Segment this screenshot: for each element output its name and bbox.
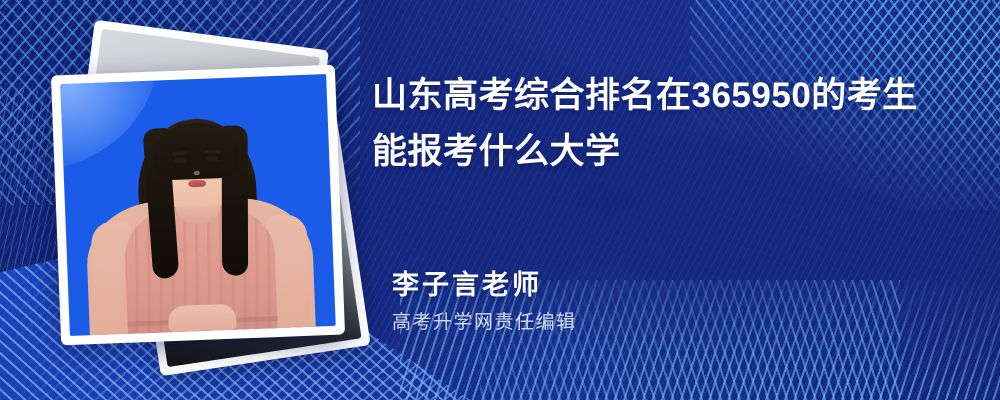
author-photo-card: [51, 65, 345, 346]
author-role: 高考升学网责任编辑: [392, 311, 577, 335]
hands: [168, 304, 237, 333]
nose: [194, 171, 200, 175]
page-title-line-1: 山东高考综合排名在365950的考生: [372, 68, 957, 124]
banner-content: 山东高考综合排名在365950的考生 能报考什么大学 李子言老师 高考升学网责任…: [372, 0, 972, 400]
page-title-line-2: 能报考什么大学: [372, 124, 957, 180]
dress-collar: [176, 205, 221, 225]
eyebrow-right: [205, 150, 220, 153]
portrait-illustration: [60, 74, 335, 336]
author-name: 李子言老师: [392, 268, 577, 302]
eye-left: [174, 158, 186, 163]
photo-card-stack: [48, 38, 348, 338]
author-photo: [60, 74, 335, 336]
eye-right: [206, 156, 218, 161]
article-cover-banner: 山东高考综合排名在365950的考生 能报考什么大学 李子言老师 高考升学网责任…: [0, 0, 1000, 400]
author-block: 李子言老师 高考升学网责任编辑: [392, 268, 577, 335]
page-title: 山东高考综合排名在365950的考生 能报考什么大学: [372, 68, 957, 180]
